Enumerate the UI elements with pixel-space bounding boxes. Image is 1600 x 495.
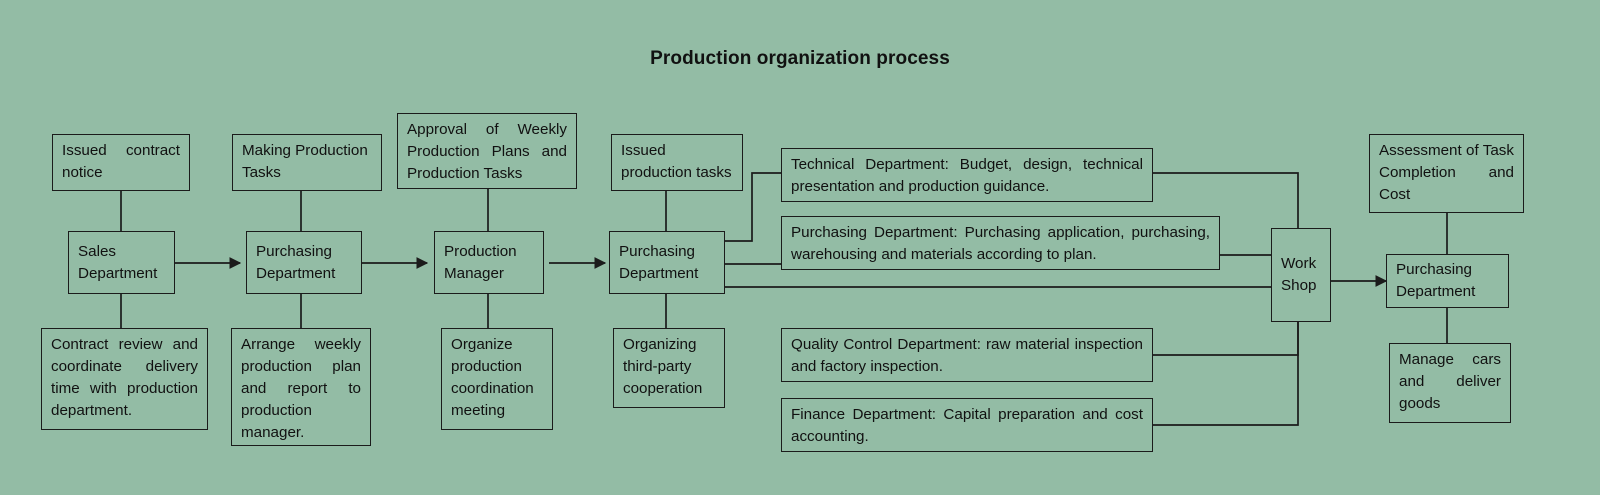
node-organize-coordination-meeting: Organize production coordination meeting <box>441 328 553 430</box>
node-production-manager: Production Manager <box>434 231 544 294</box>
node-quality-control-department: Quality Control Department: raw material… <box>781 328 1153 382</box>
node-finance-department: Finance Department: Capital preparation … <box>781 398 1153 452</box>
node-approval-weekly-plans: Approval of Weekly Production Plans and … <box>397 113 577 189</box>
node-making-production-tasks: Making Production Tasks <box>232 134 382 191</box>
node-technical-department: Technical Department: Budget, design, te… <box>781 148 1153 202</box>
node-work-shop: Work Shop <box>1271 228 1331 322</box>
node-issued-contract-notice: Issued contract notice <box>52 134 190 191</box>
link-quality-to-workshop <box>1152 322 1298 355</box>
node-issued-production-tasks: Issued production tasks <box>611 134 743 191</box>
node-contract-review: Contract review and coordinate delivery … <box>41 328 208 430</box>
link-finance-to-workshop <box>1152 322 1298 425</box>
node-arrange-weekly-plan: Arrange weekly production plan and repor… <box>231 328 371 446</box>
page-title: Production organization process <box>0 48 1600 70</box>
node-assessment-task: Assessment of Task Completion and Cost <box>1369 134 1524 213</box>
node-purchasing-department-desc: Purchasing Department: Purchasing applic… <box>781 216 1220 270</box>
node-purchasing-department-final: Purchasing Department <box>1386 254 1509 308</box>
node-purchasing-department-2: Purchasing Department <box>246 231 362 294</box>
node-manage-cars: Manage cars and deliver goods <box>1389 343 1511 423</box>
node-purchasing-department-4: Purchasing Department <box>609 231 725 294</box>
node-organizing-third-party: Organizing third-party cooperation <box>613 328 725 408</box>
node-sales-department: Sales Department <box>68 231 175 294</box>
